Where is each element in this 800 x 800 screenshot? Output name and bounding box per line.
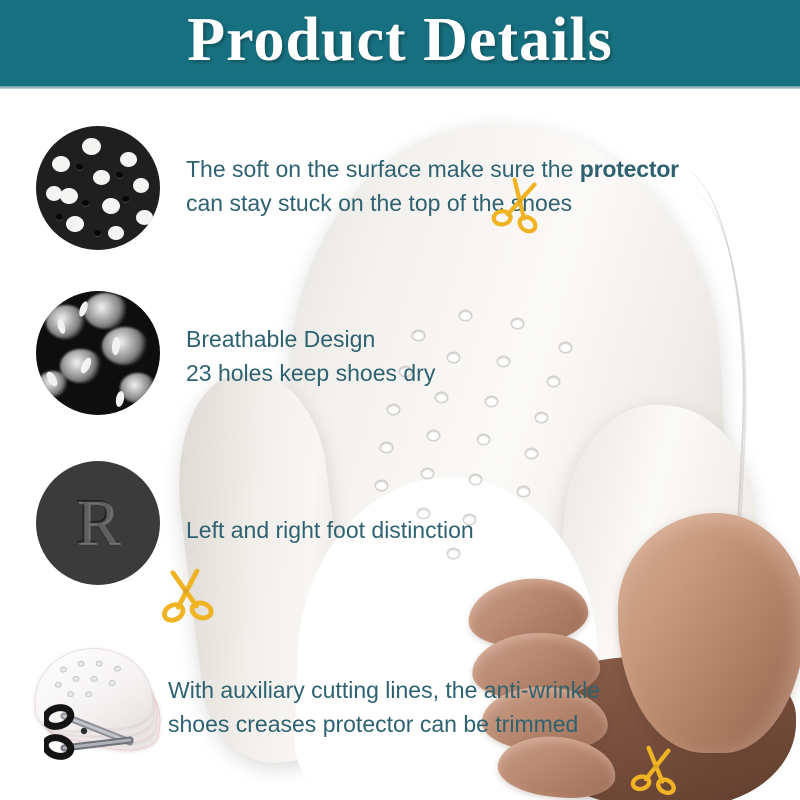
scissors-marker-bottom-icon [627,741,686,800]
product-details-page: Product Details [0,0,800,800]
feature-line: With auxiliary cutting lines, the anti-w… [168,673,600,707]
feature-line: shoes creases protector can be trimmed [168,707,600,741]
embossed-letter-r-icon: R [36,461,160,585]
feature-keyword: protector [580,156,679,182]
feature-line: The soft on the surface make sure the pr… [186,152,679,186]
black-scissors-icon [44,702,140,762]
feature-thumbnail-cutting-lines [30,640,170,760]
page-title: Product Details [0,0,800,86]
feature-text-breathable: Breathable Design 23 holes keep shoes dr… [186,322,435,390]
feature-thumbnail-breathable [36,291,160,415]
feature-line: can stay stuck on the top of the shoes [186,186,679,220]
feature-thumbnail-left-right: R [36,461,160,585]
feature-text-soft-surface: The soft on the surface make sure the pr… [186,152,679,220]
thumb [618,513,800,753]
header-bottom-edge [0,86,800,89]
feature-text-cutting-lines: With auxiliary cutting lines, the anti-w… [168,673,600,741]
feature-line: 23 holes keep shoes dry [186,356,435,390]
feature-line: Breathable Design [186,322,435,356]
feature-thumbnail-soft-surface [36,126,160,250]
feature-text-left-right: Left and right foot distinction [186,513,474,547]
feature-line: Left and right foot distinction [186,513,474,547]
scissors-marker-middle-icon [156,564,218,626]
